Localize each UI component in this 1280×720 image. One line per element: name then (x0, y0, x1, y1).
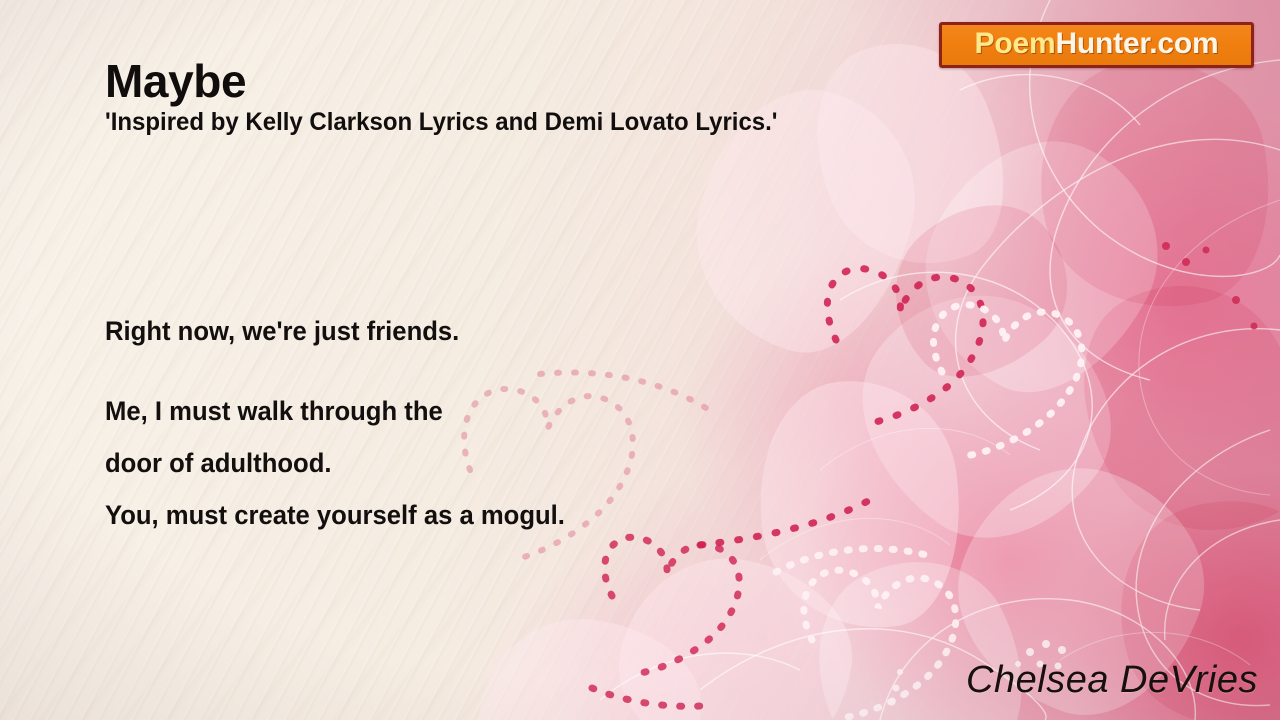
poem-subtitle: 'Inspired by Kelly Clarkson Lyrics and D… (105, 110, 778, 135)
poem-content: Maybe 'Inspired by Kelly Clarkson Lyrics… (0, 0, 1280, 720)
poem-line: Me, I must walk through the (105, 398, 770, 425)
poem-image-card: Maybe 'Inspired by Kelly Clarkson Lyrics… (0, 0, 1280, 720)
poem-line: You, must create yourself as a mogul. (105, 502, 770, 529)
author-signature: Chelsea DeVries (966, 659, 1258, 702)
poem-line: door of adulthood. (105, 450, 770, 477)
poem-body: Right now, we're just friends. Me, I mus… (105, 318, 805, 529)
poem-line: Right now, we're just friends. (105, 318, 770, 345)
logo-poem-text: Poem (975, 27, 1056, 60)
logo-wordmark: PoemHunter.com (975, 29, 1219, 59)
logo-hunter-text: Hunter.com (1055, 27, 1218, 60)
page-title: Maybe (105, 58, 246, 104)
stanza-gap (105, 345, 805, 398)
poemhunter-logo[interactable]: PoemHunter.com (939, 22, 1254, 68)
line-gap (105, 477, 805, 502)
line-gap (105, 425, 805, 450)
